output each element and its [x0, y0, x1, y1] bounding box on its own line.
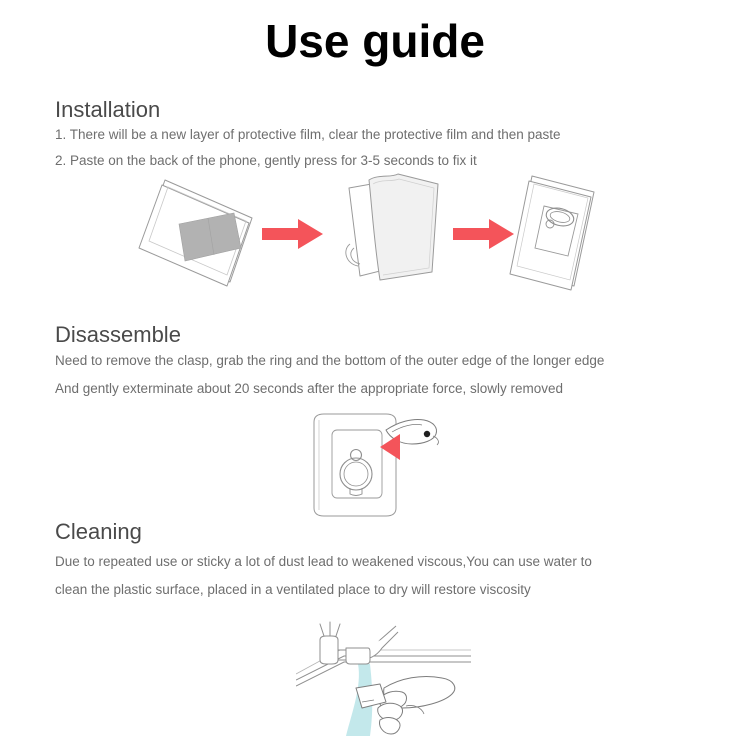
arrow-right-icon-2 — [453, 218, 515, 255]
hand-holding-ring-holder — [378, 676, 455, 734]
peeling-ring-holder-illustration — [336, 172, 451, 292]
hand-pulling-ring-holder-illustration — [300, 408, 470, 518]
cleaning-line-1: Due to repeated use or sticky a lot of d… — [55, 553, 592, 571]
section-heading-disassemble: Disassemble — [55, 322, 181, 348]
installation-line-1: 1. There will be a new layer of protecti… — [55, 126, 561, 144]
section-heading-cleaning: Cleaning — [55, 519, 142, 545]
arrow-right-icon-1 — [262, 218, 324, 255]
ring-holder-plate — [332, 430, 382, 498]
cleaning-line-2: clean the plastic surface, placed in a v… — [55, 581, 531, 599]
phone-with-protective-film-illustration — [134, 172, 274, 292]
faucet-washing-illustration — [296, 616, 471, 746]
use-guide-page: Use guide Installation 1. There will be … — [0, 0, 750, 750]
section-heading-installation: Installation — [55, 97, 160, 123]
phone-with-ring-holder-illustration — [508, 170, 628, 294]
installation-line-2: 2. Paste on the back of the phone, gentl… — [55, 152, 477, 170]
disassemble-line-2: And gently exterminate about 20 seconds … — [55, 380, 563, 398]
page-title: Use guide — [0, 14, 750, 68]
disassemble-line-1: Need to remove the clasp, grab the ring … — [55, 352, 604, 370]
